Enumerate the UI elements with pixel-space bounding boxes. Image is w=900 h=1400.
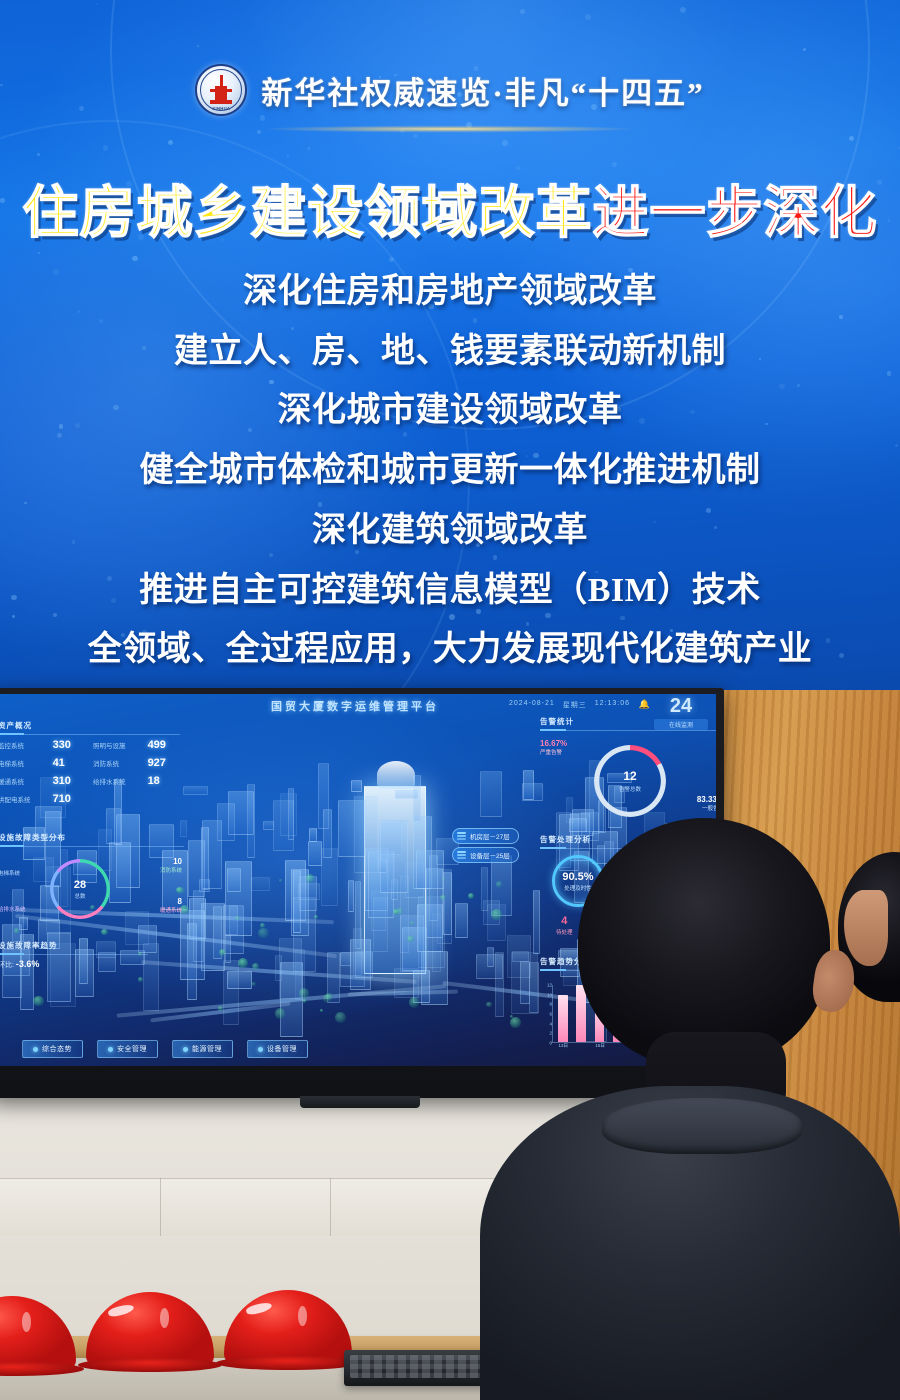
- asset-value: 330: [53, 739, 85, 751]
- dist-label: 给排水系统: [0, 905, 26, 913]
- bolt-icon: [183, 1047, 188, 1052]
- bell-icon[interactable]: 🔔: [639, 699, 650, 710]
- body-line: 推进自主可控建筑信息模型（BIM）技术: [139, 564, 761, 618]
- layers-icon: [457, 832, 466, 841]
- title-part-yellow: 住房城乡建设领域改革: [23, 183, 593, 245]
- dist-label: 暖通系统: [160, 906, 182, 914]
- dist-legend-item: 给排水系统: [0, 905, 26, 913]
- display-stand: [300, 1096, 420, 1108]
- clock-time: 12:13:06: [595, 700, 630, 710]
- tab-security[interactable]: 安全管理: [97, 1040, 158, 1058]
- layers-icon: [457, 851, 466, 860]
- body-line: 全领域、全过程应用，大力发展现代化建筑产业: [88, 623, 813, 677]
- dist-value: 8: [160, 897, 182, 906]
- poster-body: 深化住房和房地产领域改革 建立人、房、地、钱要素联动新机制 深化城市建设领域改革…: [0, 265, 900, 677]
- trend-panel: 设施故障率趋势 环比: -3.6%: [0, 940, 148, 970]
- distribution-donut-center: 28总数: [50, 859, 110, 919]
- asset-panel: 资产概况 监控系统 330 照明与设施 499 电梯系统 41 消防系统 927…: [0, 720, 180, 805]
- poster-header: XINHUA 新华社权威速览·非凡“十四五”: [0, 52, 900, 128]
- tab-label: 综合态势: [42, 1044, 72, 1054]
- distribution-heading: 设施故障类型分布: [0, 832, 184, 847]
- tab-label: 安全管理: [117, 1044, 147, 1054]
- cog-icon: [258, 1047, 263, 1052]
- dist-legend-item: 电梯系统: [0, 869, 20, 877]
- dist-value: 10: [160, 857, 182, 866]
- asset-value: 310: [53, 775, 85, 787]
- dist-label: 电梯系统: [0, 869, 20, 877]
- body-line: 深化住房和房地产领域改革: [243, 265, 657, 319]
- logo-wordmark: XINHUA: [197, 106, 245, 111]
- screenshot-stage: XINHUA 新华社权威速览·非凡“十四五” 住房城乡建设领域改革进一步深化 深…: [0, 0, 900, 1400]
- asset-value: 41: [53, 757, 85, 769]
- tab-comprehensive[interactable]: 综合态势: [22, 1040, 83, 1058]
- person-head: [578, 818, 830, 1068]
- tab-energy[interactable]: 能源管理: [172, 1040, 233, 1058]
- alarm-severe-label: 严重告警: [540, 748, 567, 756]
- dist-legend-item: 8 暖通系统: [160, 897, 182, 914]
- dashboard-clock: 2024-08-21 星期三 12:13:06: [509, 700, 630, 710]
- alarm-normal-pct: 83.33%: [697, 795, 716, 804]
- asset-label: 照明与设施: [93, 740, 140, 750]
- trend-heading: 设施故障率趋势: [0, 940, 148, 955]
- online-count: 24: [654, 696, 708, 716]
- asset-label: 消防系统: [93, 758, 140, 768]
- asset-value: 710: [53, 793, 85, 805]
- title-part-red: 进一步深化: [593, 183, 878, 245]
- person-back-view: [470, 818, 900, 1400]
- poster-banner: XINHUA 新华社权威速览·非凡“十四五” 住房城乡建设领域改革进一步深化 深…: [0, 0, 900, 700]
- alarm-donut-center: 12告警总数: [594, 745, 666, 817]
- body-line: 深化建筑领域改革: [312, 504, 588, 558]
- person-collar: [602, 1098, 802, 1154]
- tab-equipment[interactable]: 设备管理: [247, 1040, 308, 1058]
- clock-weekday: 星期三: [563, 700, 587, 710]
- alarm-legend-severe: 16.67% 严重告警: [540, 739, 567, 756]
- asset-value: 18: [148, 775, 180, 787]
- body-line: 建立人、房、地、钱要素联动新机制: [174, 325, 726, 379]
- asset-value: 927: [148, 757, 180, 769]
- body-line: 健全城市体检和城市更新一体化推进机制: [140, 444, 761, 498]
- asset-value: 499: [148, 739, 180, 751]
- shield-icon: [108, 1047, 113, 1052]
- trend-note: 环比: -3.6%: [0, 959, 148, 970]
- page-title: 住房城乡建设领域改革进一步深化: [0, 168, 900, 249]
- alarm-legend-normal: 83.33% 一般告警: [697, 795, 716, 812]
- wall-seam: [160, 1178, 161, 1236]
- asset-label: 给排水系统: [93, 776, 140, 786]
- wall-seam: [330, 1178, 331, 1236]
- clock-date: 2024-08-21: [509, 700, 555, 710]
- trend-label: 环比:: [0, 962, 14, 969]
- grid-icon: [33, 1047, 38, 1052]
- dashboard-tabbar[interactable]: 综合态势 安全管理 能源管理 设备管理: [22, 1040, 308, 1058]
- dist-legend-item: 10 消防系统: [160, 857, 182, 874]
- trend-value: -3.6%: [16, 959, 40, 969]
- alarm-heading: 告警统计: [540, 716, 716, 731]
- header-divider: [190, 124, 710, 134]
- asset-panel-heading: 资产概况: [0, 720, 180, 735]
- body-line: 深化城市建设领域改革: [278, 384, 623, 438]
- asset-label: 供配电系统: [0, 794, 45, 804]
- asset-label: 暖通系统: [0, 776, 45, 786]
- xinhua-logo-icon: XINHUA: [195, 64, 247, 116]
- alarm-statistics-panel: 告警统计 12 告警总数 16.67% 严重告警 83.33% 一般告警 12告…: [540, 716, 716, 831]
- asset-label: 监控系统: [0, 740, 45, 750]
- asset-label: 电梯系统: [0, 758, 45, 768]
- alarm-severe-pct: 16.67%: [540, 739, 567, 748]
- poster-header-title: 新华社权威速览·非凡“十四五”: [261, 68, 704, 113]
- asset-grid: 监控系统 330 照明与设施 499 电梯系统 41 消防系统 927 暖通系统…: [0, 739, 180, 805]
- dist-label: 消防系统: [160, 866, 182, 874]
- alarm-normal-label: 一般告警: [697, 804, 716, 812]
- tab-label: 能源管理: [192, 1044, 222, 1054]
- distribution-panel: 设施故障类型分布 28 总数 10 消防系统 8 暖通系统: [0, 832, 184, 937]
- tab-label: 设备管理: [267, 1044, 297, 1054]
